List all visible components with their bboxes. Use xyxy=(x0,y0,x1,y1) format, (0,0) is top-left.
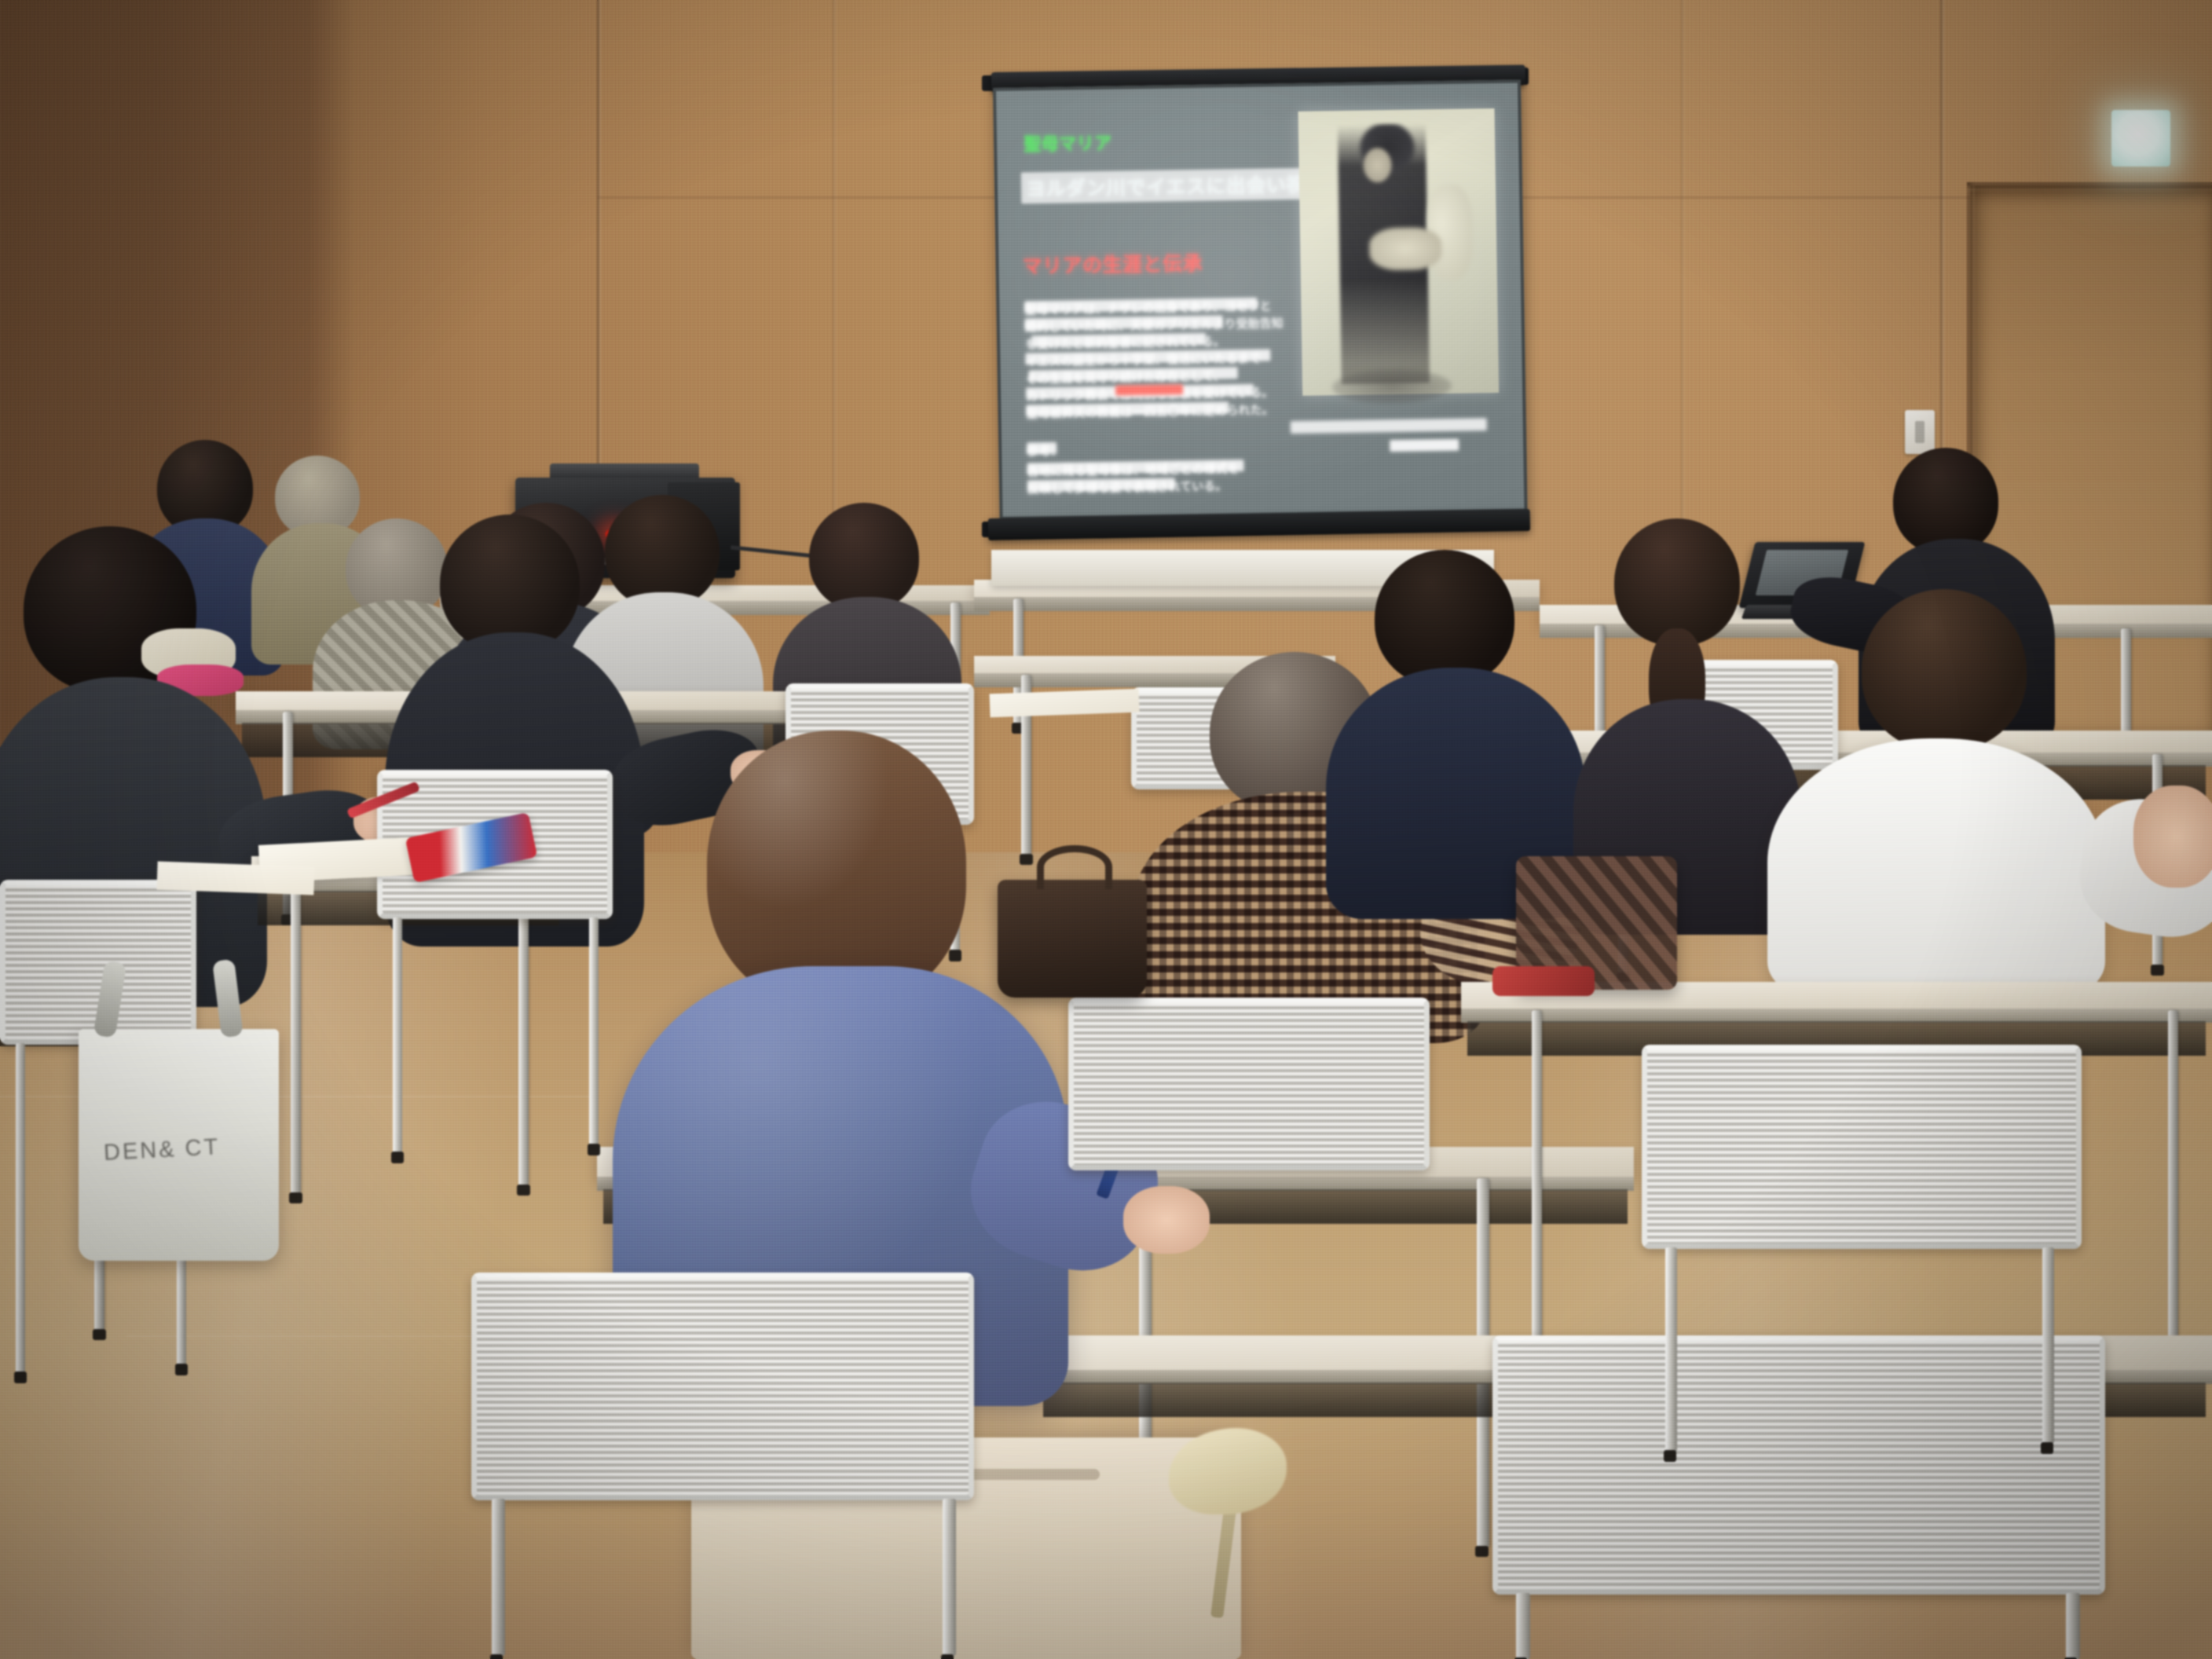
slide-note-glow xyxy=(1027,478,1175,492)
slide-emphasis-marker xyxy=(1115,384,1183,395)
person-head xyxy=(809,503,919,611)
table-leg xyxy=(1532,1010,1542,1340)
exit-indicator-light-icon xyxy=(2111,110,2170,167)
chair-leg xyxy=(16,1043,25,1373)
table-leg xyxy=(1595,625,1605,743)
chair-right-mid[interactable] xyxy=(1642,1045,2082,1249)
table-leg xyxy=(291,880,301,1194)
person-hand xyxy=(2133,786,2212,888)
person-torso xyxy=(1767,738,2105,998)
tote-bag-label: DEN& CT xyxy=(103,1134,221,1166)
chair-leg xyxy=(1665,1247,1677,1452)
chair-leg xyxy=(1516,1593,1530,1659)
person-head xyxy=(1862,589,2027,751)
chair-leg xyxy=(943,1499,956,1656)
slide-title: 聖母マリア xyxy=(1024,130,1112,156)
handbag-handle xyxy=(1037,845,1112,889)
chair-front-right[interactable] xyxy=(1492,1335,2105,1595)
table-leg xyxy=(518,880,529,1186)
projection-screen: 聖母マリア ヨルダン川でイエスに出会い祝福された聖母像 マリアの生涯と伝承 聖母… xyxy=(993,79,1528,519)
chair-center-mid[interactable] xyxy=(1068,998,1430,1170)
chair-leg xyxy=(393,917,402,1153)
slide-section-header: マリアの生涯と伝承 xyxy=(1022,248,1203,280)
door-frame xyxy=(1967,182,2212,191)
slide-photo xyxy=(1298,108,1500,396)
photo-scene: 聖母マリア ヨルダン川でイエスに出会い祝福された聖母像 マリアの生涯と伝承 聖母… xyxy=(0,0,2212,1659)
wall-light-switch[interactable] xyxy=(1905,410,1935,454)
table-leg xyxy=(2121,628,2131,746)
slide-photo-caption xyxy=(1291,418,1487,434)
statue-hands xyxy=(1369,227,1442,270)
dark-handbag xyxy=(998,880,1147,998)
tote-bag: DEN& CT xyxy=(79,1029,279,1261)
person-head xyxy=(1614,518,1740,646)
chair-leg xyxy=(492,1499,505,1656)
table-leg xyxy=(2168,1010,2178,1340)
bag-strap-accent xyxy=(1492,966,1595,996)
slide: 聖母マリア ヨルダン川でイエスに出会い祝福された聖母像 マリアの生涯と伝承 聖母… xyxy=(993,79,1528,519)
chair-leg xyxy=(589,917,599,1145)
person-hand xyxy=(1123,1186,1210,1254)
chair-leg xyxy=(2042,1247,2054,1444)
chair-leg xyxy=(2066,1593,2080,1659)
person-head xyxy=(1375,550,1514,687)
slide-note-glow xyxy=(1027,442,1057,455)
person-head xyxy=(605,495,720,608)
handout-papers xyxy=(156,862,314,895)
slide-photo-credit xyxy=(1390,439,1459,452)
